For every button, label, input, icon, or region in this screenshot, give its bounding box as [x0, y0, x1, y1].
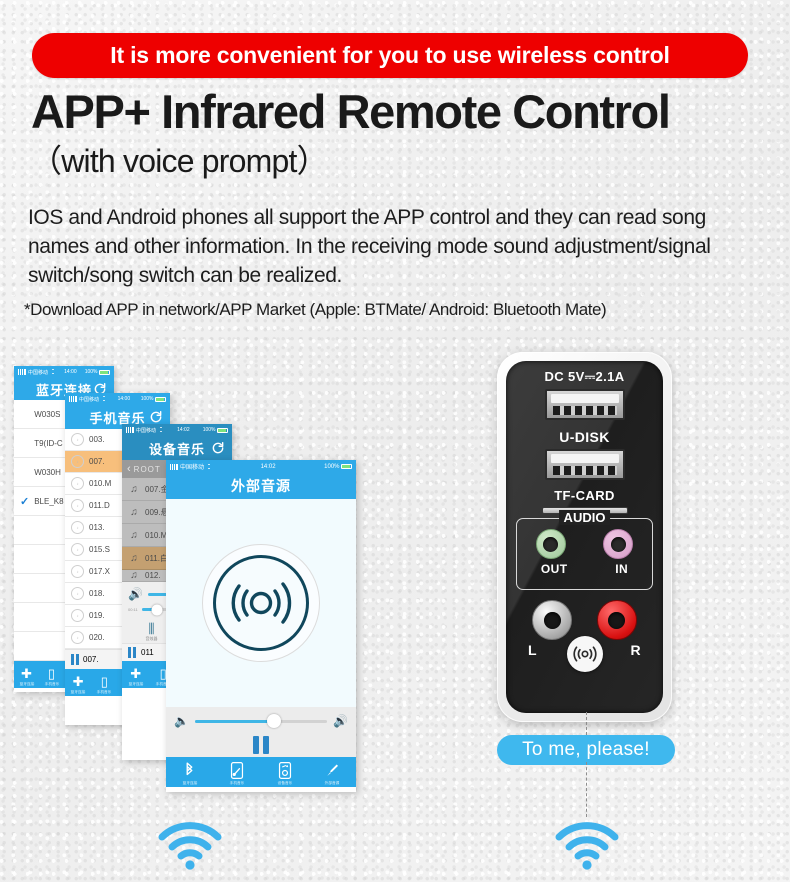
- nav-title: 外部音源: [231, 476, 291, 496]
- clock-label: 14:00: [109, 396, 139, 402]
- status-bar: 中国移动 14:00 100%: [14, 366, 114, 378]
- rca-row: [506, 600, 663, 640]
- song-title: 007.: [89, 457, 105, 466]
- wifi-icon: [101, 396, 107, 402]
- in-label: IN: [615, 562, 628, 576]
- page-subtitle: （with voice prompt）: [30, 144, 328, 179]
- disc-icon: ♪: [71, 587, 84, 600]
- bluetooth-icon: ✚: [73, 675, 84, 688]
- status-left: 中国移动: [170, 462, 212, 471]
- song-title: 019.: [89, 611, 105, 620]
- tab-phone-music[interactable]: ▯ 手机音乐: [39, 667, 64, 688]
- refresh-icon[interactable]: [149, 410, 163, 424]
- progress-knob[interactable]: [151, 604, 162, 615]
- phone-screenshot-external-source: 中国移动 14:02 100% 外部音源: [166, 460, 356, 792]
- usb-udisk-port[interactable]: [545, 449, 625, 480]
- udisk-label: U-DISK: [506, 429, 663, 445]
- phone-music-icon: [230, 762, 244, 779]
- wifi-icon-right: [552, 818, 622, 870]
- tab-label: 手机音乐: [230, 780, 245, 786]
- tab-label: 蓝牙连接: [71, 689, 86, 695]
- volume-min-icon[interactable]: 🔈: [174, 715, 189, 727]
- tab-external-source[interactable]: 外部音源: [309, 762, 357, 787]
- bottom-tab-bar: 蓝牙连接 手机音乐 设备音乐: [166, 757, 356, 787]
- bluetooth-icon: [182, 762, 197, 779]
- headline-banner: It is more convenient for you to use wir…: [32, 33, 748, 78]
- battery-percent: 100%: [324, 464, 339, 470]
- song-title: 012.: [145, 571, 161, 580]
- device-front-panel: DC 5V⎓2.1A U-DISK TF-CARD AUDIO OUT IN: [506, 361, 663, 713]
- phone-music-icon: ▯: [48, 667, 55, 680]
- battery-icon: [217, 428, 228, 433]
- disc-icon: ♪: [71, 631, 84, 644]
- jack-hole: [611, 537, 626, 552]
- status-left: 中国移动: [69, 396, 107, 403]
- audio-out-jack[interactable]: [536, 529, 566, 559]
- song-title: 010.M: [89, 479, 111, 488]
- rca-left-jack[interactable]: [532, 600, 572, 640]
- signal-bars-icon: [18, 369, 26, 375]
- song-title: 013.: [89, 523, 105, 532]
- jack-hole: [543, 537, 558, 552]
- music-note-icon: ♫: [128, 507, 140, 518]
- power-label: DC 5V⎓2.1A: [506, 369, 663, 385]
- song-title: 018.: [89, 589, 105, 598]
- tab-label: 蓝牙连接: [19, 681, 34, 687]
- body-paragraph: IOS and Android phones all support the A…: [28, 203, 744, 290]
- clock-label: 14:02: [166, 427, 201, 433]
- now-playing-title: 011: [141, 648, 154, 657]
- status-left: 中国移动: [18, 369, 56, 376]
- right-channel-label: R: [630, 642, 641, 658]
- wifi-icon: [50, 369, 56, 375]
- status-bar: 中国移动 14:00 100%: [65, 393, 170, 405]
- music-note-icon: ♫: [128, 553, 140, 564]
- banner-text: It is more convenient for you to use wir…: [110, 42, 669, 69]
- carrier-label: 中国移动: [136, 427, 156, 434]
- audio-in-jack[interactable]: [603, 529, 633, 559]
- wifi-icon: [158, 427, 164, 433]
- equalizer-icon: ⫼: [149, 622, 155, 635]
- device-name: W030S: [34, 410, 60, 419]
- disc-icon: ♪: [71, 455, 84, 468]
- speaker-icon: 🔊: [128, 588, 143, 600]
- pause-button[interactable]: [166, 736, 356, 754]
- song-title: 015.S: [89, 545, 110, 554]
- clock-label: 14:02: [214, 464, 322, 470]
- back-chevron-icon[interactable]: ‹: [127, 464, 131, 475]
- nav-bar: 外部音源: [166, 473, 356, 499]
- disc-icon: ♪: [71, 433, 84, 446]
- tab-label: 蓝牙连接: [128, 681, 143, 687]
- carrier-label: 中国移动: [28, 369, 48, 376]
- pause-icon[interactable]: [71, 654, 79, 665]
- disc-icon: ♪: [71, 521, 84, 534]
- breadcrumb-label: ROOT: [134, 465, 161, 474]
- tab-label: 蓝牙连接: [182, 780, 197, 786]
- bluetooth-icon: ✚: [130, 667, 141, 680]
- pause-bar-left: [253, 736, 259, 754]
- tab-bluetooth[interactable]: ✚ 蓝牙连接: [65, 675, 91, 696]
- music-note-icon: ♫: [128, 570, 140, 581]
- volume-max-icon[interactable]: 🔊: [333, 715, 348, 727]
- tab-label: 设备音乐: [277, 780, 292, 786]
- nav-title: 设备音乐: [149, 439, 205, 458]
- now-playing-title: 007.: [83, 655, 99, 664]
- tab-label: 手机音乐: [97, 689, 112, 695]
- wireless-visual: [166, 499, 356, 707]
- audio-label: AUDIO: [559, 510, 611, 525]
- audio-group: AUDIO OUT IN: [516, 518, 653, 590]
- volume-track[interactable]: [195, 720, 327, 723]
- device-music-icon: [278, 762, 292, 779]
- song-title: 011.白: [145, 553, 168, 564]
- song-title: 020.: [89, 633, 105, 642]
- tab-bluetooth[interactable]: ✚ 蓝牙连接: [14, 667, 39, 688]
- disc-icon: ♪: [71, 499, 84, 512]
- battery-percent: 100%: [85, 369, 98, 375]
- status-bar: 中国移动 14:02 100%: [122, 424, 232, 436]
- disc-icon: ♪: [71, 477, 84, 490]
- tab-phone-music[interactable]: ▯ 手机音乐: [91, 675, 117, 696]
- callout-text: To me, please!: [522, 739, 650, 761]
- wifi-icon: [206, 464, 212, 470]
- device-name: BLE_K8: [34, 497, 63, 506]
- status-right: 100%: [85, 369, 110, 375]
- rca-hole: [544, 612, 561, 629]
- page-title: APP+ Infrared Remote Control: [31, 88, 670, 135]
- bluetooth-icon: ✚: [21, 667, 32, 680]
- status-bar: 中国移动 14:02 100%: [166, 460, 356, 473]
- carrier-label: 中国移动: [180, 462, 204, 471]
- tab-label: 外部音源: [325, 780, 340, 786]
- battery-icon: [341, 464, 352, 469]
- volume-knob[interactable]: [267, 714, 281, 728]
- device-name: T9(ID-C: [34, 439, 62, 448]
- status-left: 中国移动: [126, 427, 164, 434]
- device-name: W030H: [34, 468, 61, 477]
- download-note: *Download APP in network/APP Market (App…: [24, 300, 764, 320]
- jack-row: [517, 519, 652, 559]
- elapsed-time: 00:11: [128, 607, 138, 612]
- left-channel-label: L: [528, 642, 537, 658]
- wireless-signal-icon: [223, 572, 299, 634]
- tab-bluetooth[interactable]: 蓝牙连接: [166, 762, 214, 787]
- status-right: 100%: [141, 396, 166, 402]
- out-label: OUT: [541, 562, 568, 576]
- aux-plug-icon: [324, 762, 340, 779]
- disc-icon: ♪: [71, 543, 84, 556]
- pause-bar-right: [263, 736, 269, 754]
- rca-right-jack[interactable]: [597, 600, 637, 640]
- equalizer-button[interactable]: ⫼ 音效器: [146, 622, 158, 643]
- lr-labels: L R: [506, 640, 663, 658]
- wifi-icon-left: [155, 818, 225, 870]
- battery-icon: [155, 397, 166, 402]
- nav-bar: 设备音乐: [122, 436, 232, 460]
- callout-badge: To me, please!: [497, 735, 675, 765]
- song-title: 017.X: [89, 567, 110, 576]
- refresh-icon[interactable]: [211, 441, 225, 455]
- playback-controls: 🔈 🔊: [166, 707, 356, 757]
- equalizer-label: 音效器: [146, 636, 158, 642]
- tab-label: 手机音乐: [44, 681, 59, 687]
- tab-device-music[interactable]: 设备音乐: [261, 762, 309, 787]
- signal-bars-icon: [126, 427, 134, 433]
- page-root: It is more convenient for you to use wir…: [0, 0, 790, 882]
- tab-phone-music[interactable]: 手机音乐: [214, 762, 262, 787]
- status-right: 100%: [324, 464, 352, 470]
- disc-icon: ♪: [71, 609, 84, 622]
- signal-bars-icon: [69, 396, 77, 402]
- ir-receiver-icon: [567, 636, 603, 672]
- pause-icon[interactable]: [128, 647, 136, 658]
- music-note-icon: ♫: [128, 530, 140, 541]
- tfcard-label: TF-CARD: [506, 488, 663, 503]
- wireless-signal-glyph: [572, 643, 598, 665]
- battery-percent: 100%: [141, 396, 154, 402]
- status-right: 100%: [203, 427, 228, 433]
- bluetooth-receiver-device: DC 5V⎓2.1A U-DISK TF-CARD AUDIO OUT IN: [497, 352, 672, 722]
- rca-hole: [608, 612, 625, 629]
- tab-bluetooth[interactable]: ✚ 蓝牙连接: [122, 667, 150, 688]
- clock-label: 14:00: [58, 369, 83, 375]
- signal-bars-icon: [170, 464, 178, 470]
- inout-labels: OUT IN: [517, 562, 652, 576]
- battery-percent: 100%: [203, 427, 216, 433]
- song-title: 010.M: [145, 531, 167, 540]
- usb-power-port[interactable]: [545, 389, 625, 420]
- disc-icon: ♪: [71, 565, 84, 578]
- check-icon: ✓: [20, 495, 29, 508]
- dashed-connector-bottom: [586, 762, 587, 817]
- song-title: 011.D: [89, 501, 110, 510]
- phone-music-icon: ▯: [101, 675, 108, 688]
- volume-fill: [195, 720, 274, 723]
- music-note-icon: ♫: [128, 484, 140, 495]
- battery-icon: [99, 370, 110, 375]
- volume-row[interactable]: 🔈 🔊: [166, 707, 356, 727]
- song-title: 003.: [89, 435, 105, 444]
- carrier-label: 中国移动: [79, 396, 99, 403]
